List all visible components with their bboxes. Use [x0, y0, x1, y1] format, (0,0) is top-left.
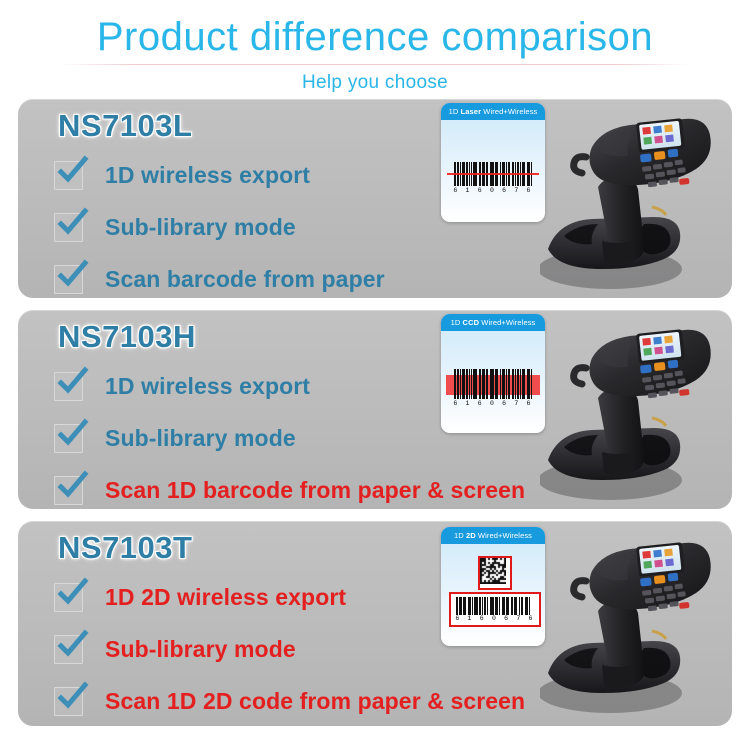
product-panel-ns7103l[interactable]: NS7103L 1D wireless export Sub-library m…: [18, 99, 732, 298]
feature-item: Scan barcode from paper: [54, 253, 614, 298]
product-model-name: NS7103T: [58, 530, 192, 566]
feature-label: 1D wireless export: [105, 162, 310, 189]
barcode-sample-card: 1D CCD Wired+Wireless 6 1 6 0 6 7 6: [441, 314, 545, 433]
card-header-label: 1D CCD Wired+Wireless: [441, 314, 545, 331]
card-header-label: 1D 2D Wired+Wireless: [441, 527, 545, 544]
barcode-digits: 6 1 6 0 6 7 6: [451, 615, 539, 622]
checkbox-checked-icon: [54, 687, 83, 716]
scanner-device-image: [540, 310, 730, 509]
checkbox-checked-icon: [54, 372, 83, 401]
laser-line-marker: [447, 173, 539, 175]
product-panel-ns7103t[interactable]: NS7103T 1D 2D wireless export Sub-librar…: [18, 521, 732, 726]
barcode-digits: 6 1 6 0 6 7 6: [441, 400, 545, 407]
checkbox-checked-icon: [54, 213, 83, 242]
feature-label: Sub-library mode: [105, 425, 296, 452]
page-title: Product difference comparison: [0, 16, 750, 58]
scanner-device-image: [540, 99, 730, 298]
checkbox-checked-icon: [54, 161, 83, 190]
barcode-graphic: 6 1 6 0 6 7 6: [441, 331, 545, 433]
checkbox-checked-icon: [54, 635, 83, 664]
card-header-label: 1D Laser Wired+Wireless: [441, 103, 545, 120]
barcode-bars: [454, 369, 532, 399]
product-panel-ns7103h[interactable]: NS7103H 1D wireless export Sub-library m…: [18, 310, 732, 509]
barcode-digits: 6 1 6 0 6 7 6: [441, 187, 545, 194]
barcode-bars: [456, 597, 530, 615]
comparison-panel-list: NS7103L 1D wireless export Sub-library m…: [0, 99, 750, 738]
feature-item: Scan 1D barcode from paper & screen: [54, 464, 614, 509]
page-subtitle: Help you choose: [0, 72, 750, 94]
qr-code-icon: [478, 556, 512, 590]
checkbox-checked-icon: [54, 583, 83, 612]
checkbox-checked-icon: [54, 265, 83, 294]
feature-label: 1D 2D wireless export: [105, 584, 346, 611]
feature-label: Sub-library mode: [105, 636, 296, 663]
page-header: Product difference comparison Help you c…: [0, 0, 750, 94]
checkbox-checked-icon: [54, 424, 83, 453]
barcode-sample-card: 1D 2D Wired+Wireless 6 1 6 0 6 7 6: [441, 527, 545, 646]
product-model-name: NS7103H: [58, 319, 196, 355]
barcode-graphic: 6 1 6 0 6 7 6: [441, 120, 545, 222]
feature-label: Sub-library mode: [105, 214, 296, 241]
feature-label: Scan 1D 2D code from paper & screen: [105, 688, 525, 715]
scanner-device-image: [540, 521, 730, 720]
feature-label: Scan barcode from paper: [105, 266, 385, 293]
feature-label: Scan 1D barcode from paper & screen: [105, 477, 525, 504]
feature-label: 1D wireless export: [105, 373, 310, 400]
feature-item: Scan 1D 2D code from paper & screen: [54, 675, 614, 726]
barcode-red-frame: 6 1 6 0 6 7 6: [449, 592, 541, 627]
product-model-name: NS7103L: [58, 108, 192, 144]
barcode-graphic: 6 1 6 0 6 7 6: [441, 544, 545, 646]
barcode-sample-card: 1D Laser Wired+Wireless 6 1 6 0 6 7 6: [441, 103, 545, 222]
checkbox-checked-icon: [54, 476, 83, 505]
title-divider: [60, 64, 690, 65]
